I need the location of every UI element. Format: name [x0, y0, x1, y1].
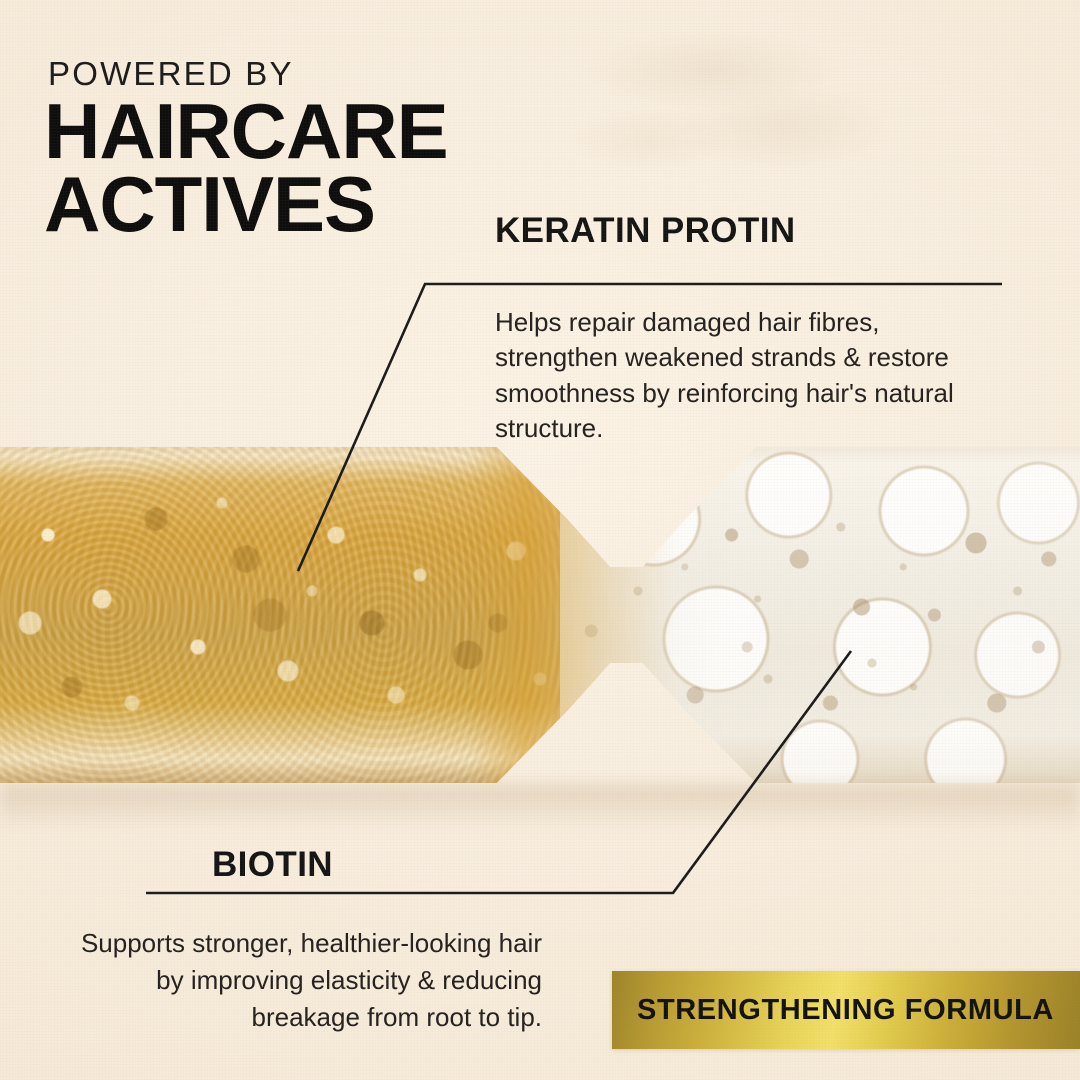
strengthening-formula-badge: STRENGTHENING FORMULA — [612, 971, 1080, 1049]
badge-label: STRENGTHENING FORMULA — [612, 994, 1054, 1027]
ampoule-drop-shadow — [0, 785, 1080, 831]
page-title: HAIRCARE ACTIVES — [44, 95, 448, 240]
page-title-line-2: ACTIVES — [44, 168, 448, 241]
ampoule-glass-body — [0, 415, 1080, 815]
biotin-callout-body: Supports stronger, healthier-looking hai… — [60, 925, 542, 1036]
biotin-callout-label: BIOTIN — [0, 845, 545, 885]
keratin-callout-body: Helps repair damaged hair fibres, streng… — [495, 305, 995, 446]
ampoule-product-image — [0, 415, 1080, 815]
keratin-callout-label: KERATIN PROTIN — [495, 211, 796, 251]
poster-canvas: POWERED BY HAIRCARE ACTIVES KERATIN PROT… — [0, 0, 1080, 1080]
serum-gel-transition — [470, 415, 730, 815]
page-title-line-1: HAIRCARE — [44, 95, 448, 168]
background-watermark — [560, 10, 920, 200]
